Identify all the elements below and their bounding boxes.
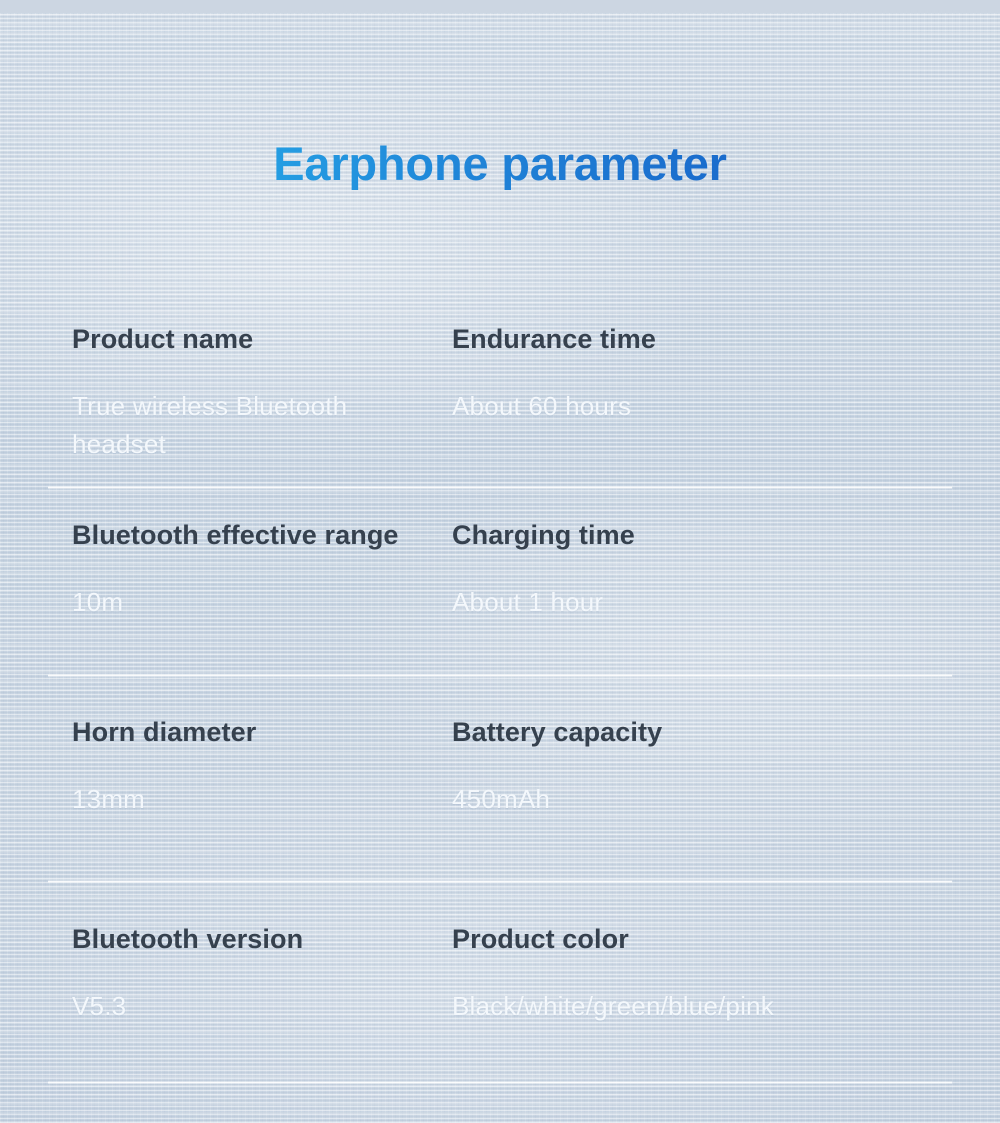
page-content: Earphone parameter Product name True wir…: [0, 0, 1000, 1123]
spec-cell-charging-time: Charging time About 1 hour: [440, 488, 940, 685]
spec-value: About 1 hour: [452, 583, 940, 621]
spec-row: Product name True wireless Bluetooth hea…: [0, 322, 1000, 488]
spec-label: Charging time: [452, 518, 940, 552]
spec-cell-bluetooth-effective-range: Bluetooth effective range 10m: [0, 488, 440, 685]
top-edge-band: [0, 0, 1000, 13]
spec-cell-battery-capacity: Battery capacity 450mAh: [440, 685, 940, 892]
spec-label: Bluetooth effective range: [72, 518, 440, 552]
spec-value: 450mAh: [452, 780, 940, 818]
spec-cell-horn-diameter: Horn diameter 13mm: [0, 685, 440, 892]
spec-cell-bluetooth-version: Bluetooth version V5.3: [0, 892, 440, 1093]
spec-value: 10m: [72, 583, 440, 621]
spec-label: Horn diameter: [72, 715, 440, 749]
spec-label: Bluetooth version: [72, 922, 440, 956]
row-divider: [48, 674, 952, 677]
spec-value: 13mm: [72, 780, 440, 818]
spec-value: About 60 hours: [452, 387, 940, 425]
spec-cell-product-color: Product color Black/white/green/blue/pin…: [440, 892, 940, 1093]
spec-value: V5.3: [72, 987, 440, 1025]
row-divider: [48, 1081, 952, 1084]
spec-label: Product color: [452, 922, 940, 956]
spec-value: Black/white/green/blue/pink: [452, 987, 940, 1025]
specification-table: Product name True wireless Bluetooth hea…: [0, 322, 1000, 1093]
row-divider: [48, 486, 952, 489]
spec-cell-product-name: Product name True wireless Bluetooth hea…: [0, 322, 440, 488]
spec-value: True wireless Bluetooth headset: [72, 387, 352, 463]
spec-cell-endurance-time: Endurance time About 60 hours: [440, 322, 940, 488]
row-divider: [48, 880, 952, 883]
spec-row: Horn diameter 13mm Battery capacity 450m…: [0, 685, 1000, 892]
spec-row: Bluetooth effective range 10m Charging t…: [0, 488, 1000, 685]
earphone-parameter-page: Earphone parameter Product name True wir…: [0, 0, 1000, 1123]
spec-label: Battery capacity: [452, 715, 940, 749]
spec-label: Endurance time: [452, 322, 940, 356]
spec-row: Bluetooth version V5.3 Product color Bla…: [0, 892, 1000, 1093]
page-title: Earphone parameter: [0, 133, 1000, 195]
spec-label: Product name: [72, 322, 440, 356]
